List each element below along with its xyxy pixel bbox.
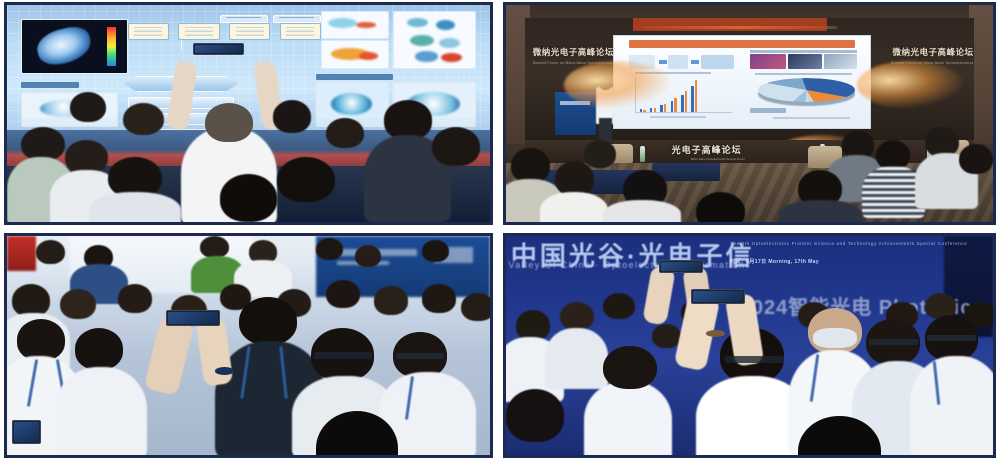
bar-chart-legend [650, 116, 706, 118]
pie-chart [758, 78, 855, 102]
attendee-head [422, 240, 449, 262]
attendee-body [603, 200, 681, 222]
sim-blob [407, 18, 428, 27]
slide-thumbnail-metaverse [750, 54, 786, 70]
simulation-thumb-3 [393, 11, 475, 69]
forum-banner-left-title: 微纳光电子高峰论坛 [533, 46, 614, 58]
sim-blob [436, 20, 455, 30]
attendee-head [560, 302, 594, 330]
bar-vr-2019 [643, 110, 645, 112]
smartphone-raised-back [659, 260, 703, 273]
attendee-head [316, 238, 343, 260]
sim-blob [359, 52, 379, 60]
firework-graphic-left [564, 61, 671, 109]
bar-ar-2020 [650, 108, 652, 112]
attendee-head [384, 100, 432, 139]
attendee-head [432, 127, 480, 166]
attendee-head [603, 293, 635, 319]
attendee-head [123, 103, 164, 136]
bar-ar-2021 [660, 105, 662, 112]
attendee-body-foreground [910, 356, 993, 455]
attendee-head [959, 144, 993, 174]
process-chip-2 [273, 15, 321, 23]
attendee-head [60, 289, 96, 320]
flow-box-3 [229, 23, 270, 41]
wristwatch [215, 367, 234, 375]
smartphone-raised-front [691, 289, 745, 304]
slide-header-band [633, 18, 828, 31]
attendee-head [374, 286, 408, 314]
bar-vr-2024 [695, 80, 697, 112]
eyeglasses [869, 339, 918, 345]
attendee-head [277, 157, 335, 203]
red-banner [7, 236, 36, 271]
bar-chart-x-axis [635, 112, 732, 113]
bracelet [706, 330, 725, 337]
backdrop-title-en: Valley Of China · Optoelectronic Informa… [508, 260, 745, 270]
forum-banner-right-title: 微纳光电子高峰论坛 [893, 46, 974, 58]
bar-ar-2024 [691, 86, 693, 112]
attendee-head [326, 118, 365, 148]
slide-icon-arrow-2 [691, 60, 699, 64]
attendee-head-phone-user [239, 297, 297, 345]
attendee-head [584, 140, 616, 168]
panel-bottom-left[interactable] [4, 233, 493, 458]
attendee-head-center [205, 103, 253, 142]
process-chip-1 [220, 15, 268, 23]
eyeglasses [725, 356, 783, 363]
panel-bottom-right[interactable]: 中国光谷·光电子信 Valley Of China · Optoelectron… [503, 233, 996, 458]
bar-ar-2019 [640, 109, 642, 112]
bar-vr-2022 [674, 98, 676, 112]
slide-thumbnail-vision [824, 54, 857, 70]
water-bottle [640, 146, 645, 162]
slide-icon-3 [701, 55, 734, 70]
smartphone-raised [193, 43, 244, 55]
sim-blob [328, 18, 357, 28]
sim-blob [415, 51, 437, 61]
panel-bottom-right-content: 中国光谷·光电子信 Valley Of China · Optoelectron… [506, 236, 993, 455]
stage-front-subtitle: Micro-Nano Optoelectronics Summit Forum [691, 157, 745, 161]
flow-box-4 [280, 23, 321, 41]
sim-blob [439, 38, 460, 48]
attendee-head [506, 389, 564, 442]
attendee-body [89, 192, 181, 222]
attendee-head [326, 280, 360, 308]
attendee-head [511, 148, 550, 183]
bar-ar-2022 [671, 101, 673, 112]
attendee-head [200, 236, 229, 258]
bar-vr-2023 [685, 91, 687, 112]
attendee-body [584, 381, 672, 455]
pie-chart-slices [758, 78, 855, 102]
slide-thumbnail-headset [788, 54, 821, 70]
attendee-head [70, 92, 106, 122]
simulation-section-caption [316, 74, 393, 80]
slide-subheader-band [629, 40, 854, 48]
attendee-head [118, 284, 152, 312]
bar-vr-2020 [654, 108, 656, 112]
attendee-head [555, 161, 594, 196]
slide-thumbnail-caption-bar [750, 50, 858, 53]
attendee-body [779, 200, 862, 222]
simulation-thumb-1 [321, 11, 389, 38]
attendee-body [545, 328, 608, 389]
thermal-image-panel [21, 19, 127, 74]
face-mask [813, 328, 857, 348]
sim-blob [331, 93, 372, 115]
flow-box-1 [128, 23, 169, 41]
backdrop-subtitle-en: The 4th Optoelectronic Frontier Science … [730, 241, 967, 246]
panel-bottom-left-content [7, 236, 490, 455]
attendee-head [422, 284, 456, 312]
bar-ar-2023 [681, 95, 683, 112]
eyeglasses [927, 335, 976, 341]
attendee-head-foreground [75, 328, 123, 370]
pie-chart-title [755, 73, 852, 75]
photo-collage: 微纳光电子高峰论坛 Summit Forum on Micro-Nano Opt… [0, 0, 1000, 461]
attendee-body [540, 192, 608, 222]
stage-front-title: 光电子高峰论坛 [672, 143, 742, 156]
bar-vr-2021 [664, 104, 666, 113]
attendee-head [220, 174, 278, 222]
attendee-head-foreground [603, 346, 657, 390]
pie-chart-callout [750, 108, 786, 113]
slide-caption-bar [21, 82, 79, 88]
sim-blob [410, 35, 434, 46]
smartphone-raised [166, 310, 219, 325]
attendee-head-foreground [17, 319, 65, 361]
panel-top-right-content: 微纳光电子高峰论坛 Summit Forum on Micro-Nano Opt… [506, 5, 993, 222]
sim-blob [441, 53, 462, 62]
sim-blob [356, 22, 376, 29]
eyeglasses [314, 352, 372, 359]
eyeglasses [396, 353, 444, 359]
pie-chart-legend [773, 117, 850, 119]
slide-icon-2 [668, 55, 688, 70]
attendee-body-foreground [55, 367, 147, 455]
flow-connector-vertical [181, 40, 183, 50]
panel-top-left[interactable] [4, 2, 493, 225]
speaker-trousers [599, 118, 613, 140]
panel-top-left-content [7, 5, 490, 222]
attendee-head [461, 293, 490, 321]
smartphone-held [12, 420, 41, 444]
attendee-head [273, 100, 312, 133]
attendee-head [355, 245, 382, 267]
simulation-thumb-2 [321, 40, 389, 69]
flow-box-2 [178, 23, 219, 41]
firework-graphic-right [857, 61, 964, 109]
panel-top-right[interactable]: 微纳光电子高峰论坛 Summit Forum on Micro-Nano Opt… [503, 2, 996, 225]
backdrop-date-line: 时间：5月17日 Morning, 17th May [730, 258, 819, 265]
attendee-head [36, 240, 65, 264]
slide-icon-arrow-1 [659, 60, 667, 64]
